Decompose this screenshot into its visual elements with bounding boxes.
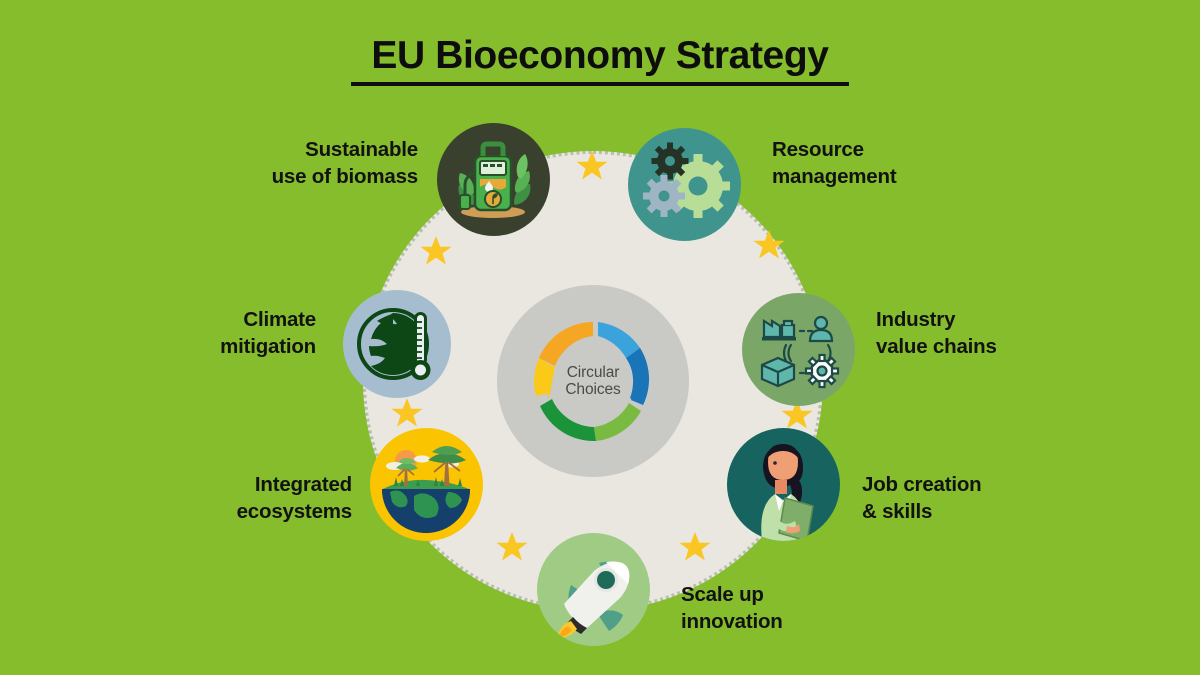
professional-person-icon	[727, 428, 840, 541]
pillar-label-job-creation-and-skills: Job creation & skills	[862, 471, 1092, 525]
logo-line-2: Choices	[522, 381, 664, 398]
circular-choices-logo: Circular Choices	[522, 310, 664, 452]
pillar-label-industry-value-chains: Industry value chains	[876, 306, 1106, 360]
pillar-icon-integrated-ecosystems[interactable]	[370, 428, 483, 541]
page-title-container: EU Bioeconomy Strategy	[0, 34, 1200, 86]
pillar-icon-sustainable-use-of-biomass[interactable]	[437, 123, 550, 236]
pillar-label-resource-management: Resource management	[772, 136, 1002, 190]
pillar-icon-scale-up-innovation[interactable]	[537, 533, 650, 646]
pillar-icon-industry-value-chains[interactable]	[742, 293, 855, 406]
pillar-label-climate-mitigation: Climate mitigation	[120, 306, 316, 360]
eu-star-icon	[419, 234, 453, 268]
eu-star-icon	[752, 228, 786, 262]
eu-star-icon	[495, 530, 529, 564]
pillar-label-integrated-ecosystems: Integrated ecosystems	[124, 471, 352, 525]
biofuel-pump-icon	[437, 123, 550, 236]
globe-thermometer-icon	[343, 290, 451, 398]
eu-star-icon	[575, 149, 609, 183]
pillar-icon-climate-mitigation[interactable]	[343, 290, 451, 398]
supply-chain-icon	[742, 293, 855, 406]
pillar-icon-resource-management[interactable]	[628, 128, 741, 241]
earth-with-trees-icon	[370, 428, 483, 541]
eu-star-icon	[678, 530, 712, 564]
pillar-label-sustainable-use-of-biomass: Sustainable use of biomass	[190, 136, 418, 190]
infographic-canvas: EU Bioeconomy Strategy Circular	[0, 0, 1200, 675]
logo-line-1: Circular	[522, 364, 664, 381]
gears-icon	[628, 128, 741, 241]
pillar-label-scale-up-innovation: Scale up innovation	[681, 581, 911, 635]
eu-star-icon	[390, 396, 424, 430]
logo-wordmark: Circular Choices	[522, 364, 664, 398]
rocket-icon	[537, 533, 650, 646]
pillar-icon-job-creation-and-skills[interactable]	[727, 428, 840, 541]
page-title: EU Bioeconomy Strategy	[351, 34, 849, 86]
